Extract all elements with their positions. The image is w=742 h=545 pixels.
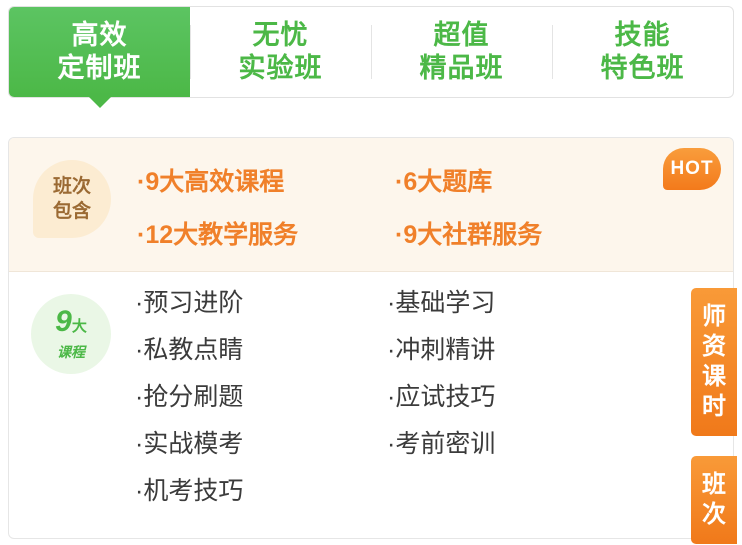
side-tab-teacher-char: 师 xyxy=(691,302,737,332)
course-item: ·抢分刷题 xyxy=(135,374,387,421)
package-badge-line2: 包含 xyxy=(53,199,91,224)
side-tab-class-char: 班 xyxy=(691,470,737,500)
tab-chaozhi[interactable]: 超值 精品班 xyxy=(371,7,552,97)
courses-column-right: ·基础学习 ·冲刺精讲 ·应试技巧 ·考前密训 xyxy=(387,280,639,515)
course-item: ·私教点睛 xyxy=(135,327,387,374)
tab-jineng[interactable]: 技能 特色班 xyxy=(552,7,733,97)
tab-wuyou[interactable]: 无忧 实验班 xyxy=(190,7,371,97)
courses-column-left: ·预习进阶 ·私教点睛 ·抢分刷题 ·实战模考 ·机考技巧 xyxy=(135,280,387,515)
course-item: ·考前密训 xyxy=(387,421,639,468)
courses-section: 9大 课程 ·预习进阶 ·私教点睛 ·抢分刷题 ·实战模考 ·机考技巧 ·基础学… xyxy=(9,272,733,540)
courses-badge: 9大 课程 xyxy=(31,294,111,374)
tab-chaozhi-line1: 超值 xyxy=(434,19,490,52)
tab-wuyou-line2: 实验班 xyxy=(239,52,323,85)
class-detail-card: 班次 包含 ·9大高效课程 ·6大题库 ·12大教学服务 ·9大社群服务 HOT… xyxy=(8,137,734,539)
class-type-tabbar: 高效 定制班 无忧 实验班 超值 精品班 技能 特色班 xyxy=(8,6,734,98)
side-tab-teacher-char: 课 xyxy=(691,362,737,392)
package-badge-line1: 班次 xyxy=(53,174,91,199)
tab-chaozhi-line2: 精品班 xyxy=(420,52,504,85)
package-item: ·9大高效课程 xyxy=(137,156,395,209)
course-item: ·实战模考 xyxy=(135,421,387,468)
side-tab-teacher-char: 时 xyxy=(691,392,737,422)
course-item: ·应试技巧 xyxy=(387,374,639,421)
tab-jineng-line1: 技能 xyxy=(615,19,671,52)
package-item: ·6大题库 xyxy=(395,156,653,209)
course-item: ·基础学习 xyxy=(387,280,639,327)
package-item: ·12大教学服务 xyxy=(137,209,395,262)
tab-gaoxiao[interactable]: 高效 定制班 xyxy=(9,7,190,97)
package-section: 班次 包含 ·9大高效课程 ·6大题库 ·12大教学服务 ·9大社群服务 HOT xyxy=(9,138,733,272)
courses-columns: ·预习进阶 ·私教点睛 ·抢分刷题 ·实战模考 ·机考技巧 ·基础学习 ·冲刺精… xyxy=(135,280,639,515)
course-item: ·冲刺精讲 xyxy=(387,327,639,374)
side-tab-teacher[interactable]: 师 资 课 时 xyxy=(691,288,737,436)
side-tab-teacher-char: 资 xyxy=(691,332,737,362)
tab-jineng-line2: 特色班 xyxy=(601,52,685,85)
active-tab-arrow-icon xyxy=(89,97,111,108)
package-badge: 班次 包含 xyxy=(33,160,111,238)
hot-badge: HOT xyxy=(663,148,721,190)
package-item: ·9大社群服务 xyxy=(395,209,653,262)
tab-gaoxiao-line1: 高效 xyxy=(72,19,128,52)
courses-badge-number: 9大 xyxy=(55,307,87,342)
tab-gaoxiao-line2: 定制班 xyxy=(58,52,142,85)
courses-badge-label: 课程 xyxy=(57,342,85,362)
course-item: ·机考技巧 xyxy=(135,468,387,515)
tab-wuyou-line1: 无忧 xyxy=(253,19,309,52)
course-item: ·预习进阶 xyxy=(135,280,387,327)
package-item-list: ·9大高效课程 ·6大题库 ·12大教学服务 ·9大社群服务 xyxy=(137,156,733,262)
side-tab-class-char: 次 xyxy=(691,500,737,530)
side-tab-class[interactable]: 班 次 xyxy=(691,456,737,544)
